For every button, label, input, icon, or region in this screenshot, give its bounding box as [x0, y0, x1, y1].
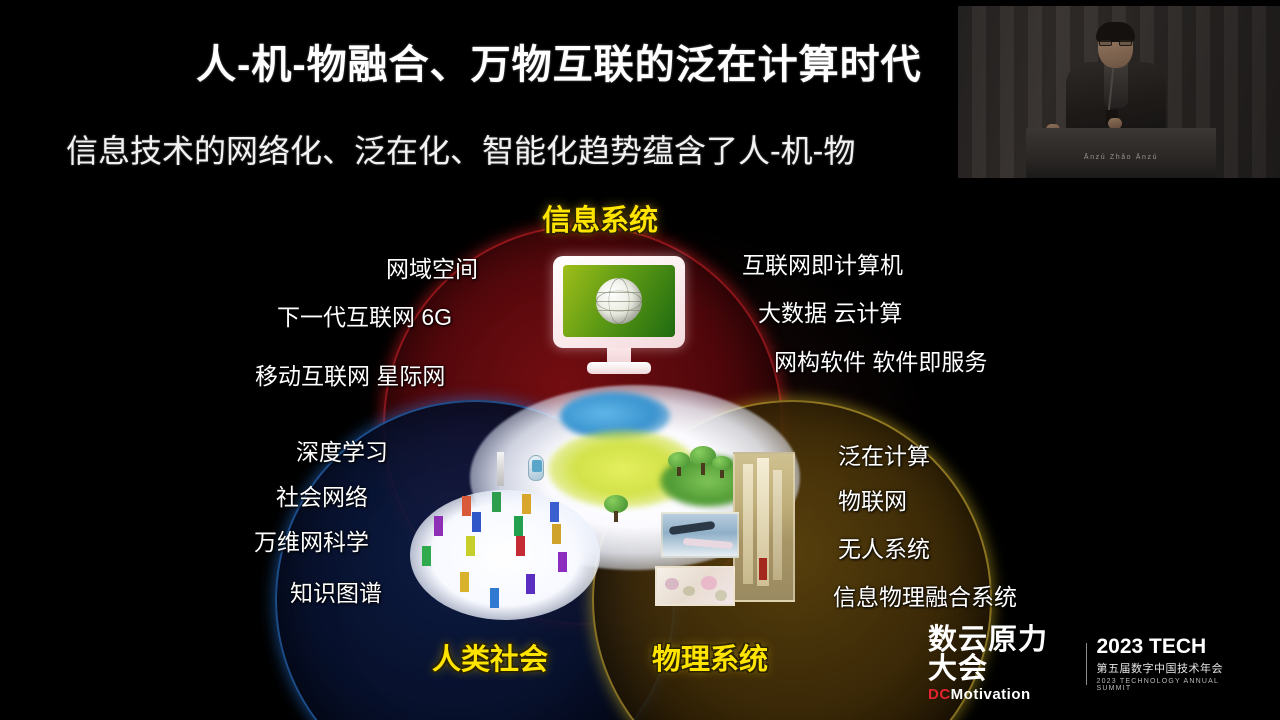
logo-subtitle-cn: 第五届数字中国技术年会 — [1096, 660, 1228, 676]
keyword-physical-1: 泛在计算 — [838, 437, 930, 471]
skyscraper-photo — [733, 452, 795, 602]
mobile-device-icon — [528, 455, 544, 481]
video-letterbox-bottom — [958, 178, 1280, 186]
airplane-photo — [661, 512, 739, 558]
logo-name-cn: 数云原力大会 — [928, 626, 1076, 684]
speaker-shirt — [1104, 64, 1128, 108]
keyword-info-right-1: 互联网即计算机 — [742, 246, 903, 280]
logo-year: 2023 TECH — [1096, 636, 1228, 658]
keyword-info-left-1: 网域空间 — [386, 250, 478, 284]
tree-icon — [668, 452, 690, 476]
keyword-info-left-2: 下一代互联网 6G — [277, 298, 452, 332]
logo-name-en-rest: Motivation — [951, 686, 1031, 703]
event-logo: 数云原力大会 DCMotivation 2023 TECH 第五届数字中国技术年… — [928, 634, 1228, 694]
globe-icon — [596, 278, 642, 324]
podium-caption: Ānzú Zhǎo Ānzú — [1026, 154, 1216, 161]
logo-name-en-dc: DC — [928, 686, 951, 703]
keyword-info-left-3: 移动互联网 星际网 — [255, 357, 445, 391]
tree-icon — [604, 495, 628, 521]
keyword-physical-4: 信息物理融合系统 — [833, 578, 1017, 612]
keyword-society-3: 万维网科学 — [254, 523, 369, 557]
keyword-society-2: 社会网络 — [276, 478, 368, 512]
region-label-information-system: 信息系统 — [542, 197, 658, 239]
logo-divider — [1086, 643, 1087, 685]
region-label-human-society: 人类社会 — [432, 636, 548, 678]
keyword-info-right-3: 网构软件 软件即服务 — [774, 343, 987, 377]
tree-icon — [712, 456, 732, 478]
keyword-society-1: 深度学习 — [296, 433, 388, 467]
presentation-slide-screen: 人-机-物融合、万物互联的泛在计算时代 信息技术的网络化、泛在化、智能化趋势蕴含… — [0, 0, 1280, 720]
logo-name-en: DCMotivation — [928, 687, 1076, 702]
keyword-society-4: 知识图谱 — [290, 574, 382, 608]
keyword-physical-3: 无人系统 — [838, 530, 930, 564]
glasses-icon — [1099, 39, 1132, 46]
microscopy-photo — [655, 566, 735, 606]
street-post-icon — [497, 452, 504, 486]
speaker-video-overlay[interactable]: Ānzú Zhǎo Ānzú — [957, 0, 1280, 186]
region-label-physical-system: 物理系统 — [652, 636, 768, 678]
logo-subtitle-en: 2023 TECHNOLOGY ANNUAL SUMMIT — [1096, 678, 1228, 692]
computer-monitor-icon — [553, 256, 685, 380]
keyword-physical-2: 物联网 — [838, 482, 907, 516]
video-letterbox-top — [958, 0, 1280, 6]
keyword-info-right-2: 大数据 云计算 — [758, 294, 902, 328]
social-network-illustration — [410, 490, 600, 620]
podium: Ānzú Zhǎo Ānzú — [1026, 128, 1216, 178]
